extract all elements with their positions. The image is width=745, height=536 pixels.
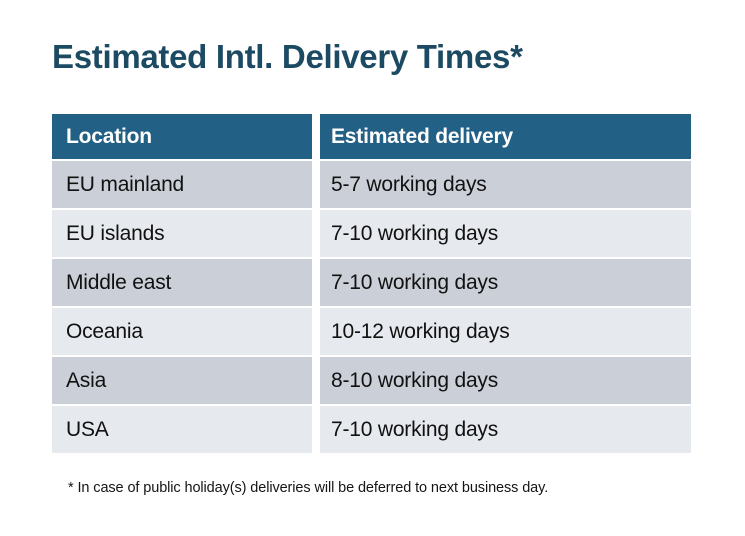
cell-location: EU mainland xyxy=(52,161,312,208)
table-row: EU mainland 5-7 working days xyxy=(52,161,691,208)
cell-estimated-delivery: 7-10 working days xyxy=(320,210,691,257)
page-title: Estimated Intl. Delivery Times* xyxy=(52,38,523,76)
table-header-row: Location Estimated delivery xyxy=(52,114,691,159)
cell-location: EU islands xyxy=(52,210,312,257)
cell-estimated-delivery: 10-12 working days xyxy=(320,308,691,355)
table-row: Middle east 7-10 working days xyxy=(52,259,691,306)
delivery-times-page: Estimated Intl. Delivery Times* Location… xyxy=(0,0,745,536)
footnote-text: * In case of public holiday(s) deliverie… xyxy=(68,480,548,496)
cell-location: Middle east xyxy=(52,259,312,306)
cell-location: USA xyxy=(52,406,312,453)
table-row: EU islands 7-10 working days xyxy=(52,210,691,257)
cell-location: Oceania xyxy=(52,308,312,355)
table-row: USA 7-10 working days xyxy=(52,406,691,453)
cell-estimated-delivery: 8-10 working days xyxy=(320,357,691,404)
cell-estimated-delivery: 7-10 working days xyxy=(320,406,691,453)
column-header-estimated-delivery: Estimated delivery xyxy=(320,114,691,159)
table-row: Oceania 10-12 working days xyxy=(52,308,691,355)
table-row: Asia 8-10 working days xyxy=(52,357,691,404)
cell-location: Asia xyxy=(52,357,312,404)
cell-estimated-delivery: 5-7 working days xyxy=(320,161,691,208)
cell-estimated-delivery: 7-10 working days xyxy=(320,259,691,306)
delivery-times-table: Location Estimated delivery EU mainland … xyxy=(52,114,691,455)
column-header-location: Location xyxy=(52,114,312,159)
